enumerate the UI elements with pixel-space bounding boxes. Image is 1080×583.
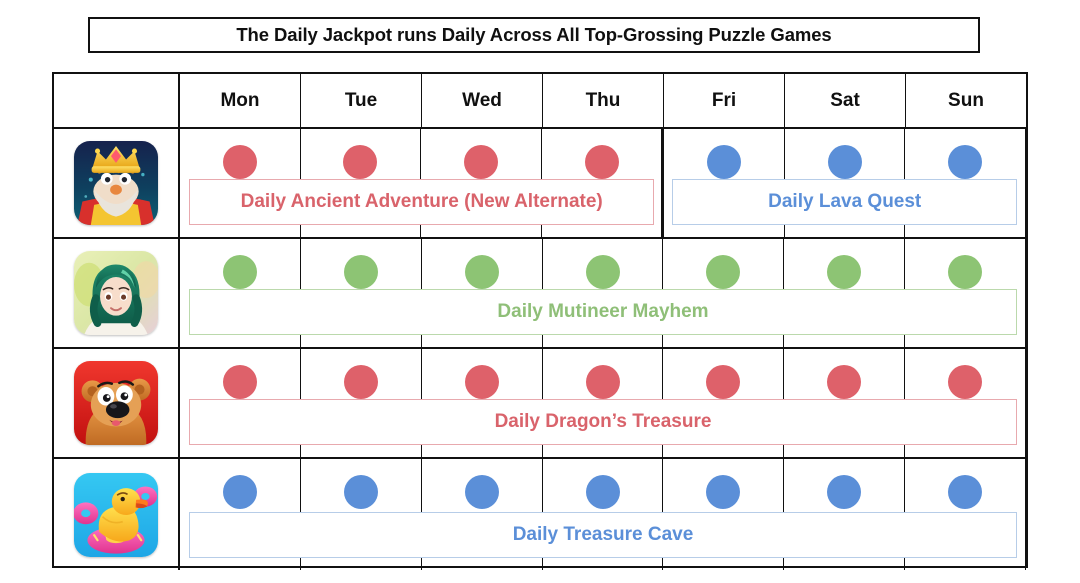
royal-king-game-icon[interactable]: [74, 141, 158, 225]
green-status-dot: [706, 255, 740, 289]
header-corner-cell: [54, 74, 180, 127]
red-status-dot: [223, 145, 257, 179]
event-label-bar[interactable]: Daily Mutineer Mayhem: [189, 289, 1017, 335]
blue-status-dot: [465, 475, 499, 509]
green-hair-woman-game-icon[interactable]: [74, 251, 158, 335]
blue-status-dot: [948, 145, 982, 179]
day-cells: Daily Treasure Cave: [180, 459, 1026, 570]
red-status-dot: [585, 145, 619, 179]
event-label-bar[interactable]: Daily Treasure Cave: [189, 512, 1017, 558]
green-status-dot: [586, 255, 620, 289]
table-row: Daily Mutineer Mayhem: [54, 239, 1026, 349]
event-label-bar[interactable]: Daily Ancient Adventure (New Alternate): [189, 179, 654, 225]
green-status-dot: [465, 255, 499, 289]
game-icon-cell[interactable]: [54, 129, 180, 237]
weekly-schedule-table: MonTueWedThuFriSatSun: [52, 72, 1028, 568]
green-status-dot: [223, 255, 257, 289]
blue-status-dot: [948, 475, 982, 509]
event-label-text: Daily Treasure Cave: [513, 524, 694, 546]
red-status-dot: [465, 365, 499, 399]
day-header-fri: Fri: [664, 74, 785, 127]
game-icon-cell[interactable]: [54, 349, 180, 457]
red-status-dot: [827, 365, 861, 399]
blue-status-dot: [586, 475, 620, 509]
table-header-row: MonTueWedThuFriSatSun: [54, 74, 1026, 129]
blue-status-dot: [223, 475, 257, 509]
table-row: Daily Dragon’s Treasure: [54, 349, 1026, 459]
day-header-tue: Tue: [301, 74, 422, 127]
event-label-text: Daily Dragon’s Treasure: [495, 411, 712, 433]
title-banner: The Daily Jackpot runs Daily Across All …: [88, 17, 980, 53]
game-rows-container: Daily Ancient Adventure (New Alternate)D…: [54, 129, 1026, 570]
red-status-dot: [948, 365, 982, 399]
red-status-dot: [706, 365, 740, 399]
day-header-wed: Wed: [422, 74, 543, 127]
blue-status-dot: [344, 475, 378, 509]
day-header-mon: Mon: [180, 74, 301, 127]
event-label-text: Daily Mutineer Mayhem: [497, 301, 708, 323]
rubber-duck-donut-game-icon[interactable]: [74, 473, 158, 557]
red-status-dot: [343, 145, 377, 179]
day-header-thu: Thu: [543, 74, 664, 127]
table-row: Daily Treasure Cave: [54, 459, 1026, 570]
day-cells: Daily Dragon’s Treasure: [180, 349, 1026, 457]
event-label-text: Daily Ancient Adventure (New Alternate): [241, 191, 603, 213]
game-icon-cell[interactable]: [54, 459, 180, 570]
day-header-sun: Sun: [906, 74, 1026, 127]
game-icon-cell[interactable]: [54, 239, 180, 347]
green-status-dot: [948, 255, 982, 289]
day-cells: Daily Ancient Adventure (New Alternate)D…: [180, 129, 1026, 237]
red-status-dot: [586, 365, 620, 399]
event-label-text: Daily Lava Quest: [768, 191, 921, 213]
red-status-dot: [344, 365, 378, 399]
green-status-dot: [344, 255, 378, 289]
day-cells: Daily Mutineer Mayhem: [180, 239, 1026, 347]
green-status-dot: [827, 255, 861, 289]
page-title: The Daily Jackpot runs Daily Across All …: [236, 24, 831, 46]
blue-status-dot: [707, 145, 741, 179]
table-row: Daily Ancient Adventure (New Alternate)D…: [54, 129, 1026, 239]
event-label-bar[interactable]: Daily Dragon’s Treasure: [189, 399, 1017, 445]
event-label-bar[interactable]: Daily Lava Quest: [672, 179, 1017, 225]
brown-bear-game-icon[interactable]: [74, 361, 158, 445]
blue-status-dot: [828, 145, 862, 179]
day-header-sat: Sat: [785, 74, 906, 127]
red-status-dot: [464, 145, 498, 179]
red-status-dot: [223, 365, 257, 399]
blue-status-dot: [706, 475, 740, 509]
day-header-cells: MonTueWedThuFriSatSun: [180, 74, 1026, 127]
blue-status-dot: [827, 475, 861, 509]
